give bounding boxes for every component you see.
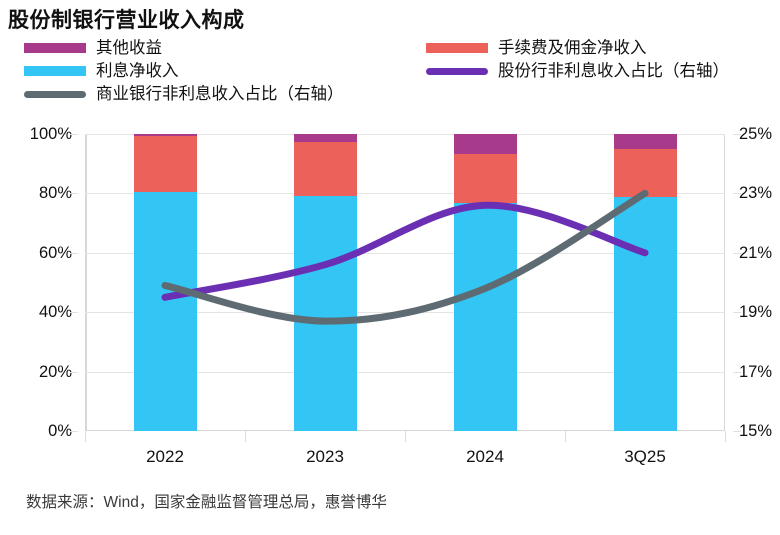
y-axis-left-tick: 40%	[39, 304, 72, 321]
y-axis-left-tick: 100%	[30, 126, 72, 143]
x-axis-tick: 3Q25	[624, 447, 666, 467]
legend-other-income[interactable]: 其他收益	[24, 40, 162, 57]
bar-segment[interactable]	[294, 134, 357, 142]
y-axis-right-tick-mark	[733, 253, 741, 254]
x-axis-tick: 2022	[146, 447, 184, 467]
x-axis: 2022202320243Q25	[85, 431, 725, 471]
legend-item-label: 商业银行非利息收入占比（右轴）	[96, 86, 344, 103]
bar-column[interactable]	[294, 134, 357, 431]
bar-segment[interactable]	[454, 203, 517, 431]
y-axis-left-tick-mark	[70, 193, 78, 194]
y-axis-left-tick-mark	[70, 134, 78, 135]
chart-container: 股份制银行营业收入构成 其他收益手续费及佣金净收入利息净收入股份行非利息收入占比…	[0, 0, 780, 535]
y-axis-left-tick: 20%	[39, 364, 72, 381]
chart-legend: 其他收益手续费及佣金净收入利息净收入股份行非利息收入占比（右轴）商业银行非利息收…	[22, 40, 762, 110]
legend-color-swatch	[426, 43, 488, 53]
y-axis-right-tick: 15%	[739, 423, 772, 440]
bar-segment[interactable]	[134, 192, 197, 431]
x-axis-divider	[725, 431, 726, 442]
y-axis-right-tick-mark	[733, 431, 741, 432]
bar-column[interactable]	[614, 134, 677, 431]
y-axis-right-tick: 17%	[739, 364, 772, 381]
bar-segment[interactable]	[134, 134, 197, 136]
x-axis-tick: 2024	[466, 447, 504, 467]
y-axis-left-tick: 60%	[39, 245, 72, 262]
bar-segment[interactable]	[614, 149, 677, 197]
y-axis-right-tick: 23%	[739, 185, 772, 202]
legend-color-swatch	[24, 66, 86, 76]
bar-segment[interactable]	[294, 196, 357, 431]
y-axis-right-tick-mark	[733, 134, 741, 135]
legend-color-swatch	[24, 43, 86, 53]
legend-commercial-bank-noninterest-share[interactable]: 商业银行非利息收入占比（右轴）	[24, 86, 344, 103]
y-axis-left: 100%80%60%40%20%0%	[8, 134, 78, 431]
line-series-path	[165, 193, 645, 321]
legend-item-label: 股份行非利息收入占比（右轴）	[498, 63, 729, 80]
legend-joint-stock-noninterest-share[interactable]: 股份行非利息收入占比（右轴）	[426, 63, 729, 80]
y-axis-left-tick-mark	[70, 431, 78, 432]
y-axis-left-tick: 80%	[39, 185, 72, 202]
y-axis-right-tick: 21%	[739, 245, 772, 262]
y-axis-right-tick: 19%	[739, 304, 772, 321]
legend-item-label: 利息净收入	[96, 63, 179, 80]
legend-line-swatch	[24, 91, 86, 98]
plot-right-edge	[724, 134, 726, 431]
y-axis-right-tick: 25%	[739, 126, 772, 143]
y-axis-right-tick-mark	[733, 193, 741, 194]
y-axis-left-tick-mark	[70, 312, 78, 313]
y-axis-left-tick: 0%	[48, 423, 72, 440]
legend-item-label: 其他收益	[96, 40, 162, 57]
bar-column[interactable]	[134, 134, 197, 431]
plot-area	[85, 134, 725, 431]
bar-segment[interactable]	[454, 154, 517, 203]
plot-left-edge	[85, 134, 87, 431]
bar-segment[interactable]	[134, 136, 197, 192]
legend-net-interest-income[interactable]: 利息净收入	[24, 63, 179, 80]
bar-segment[interactable]	[614, 134, 677, 149]
legend-line-swatch	[426, 68, 488, 75]
legend-fee-commission-income[interactable]: 手续费及佣金净收入	[426, 40, 647, 57]
y-axis-left-tick-mark	[70, 253, 78, 254]
x-axis-divider	[85, 431, 86, 442]
legend-item-label: 手续费及佣金净收入	[498, 40, 647, 57]
bar-segment[interactable]	[454, 134, 517, 154]
y-axis-left-tick-mark	[70, 372, 78, 373]
source-footnote: 数据来源：Wind，国家金融监督管理总局，惠誉博华	[26, 490, 387, 512]
x-axis-divider	[245, 431, 246, 442]
bar-segment[interactable]	[614, 197, 677, 431]
x-axis-divider	[565, 431, 566, 442]
x-axis-tick: 2023	[306, 447, 344, 467]
x-axis-divider	[405, 431, 406, 442]
bar-column[interactable]	[454, 134, 517, 431]
y-axis-right: 25%23%21%19%17%15%	[733, 134, 780, 431]
bar-segment[interactable]	[294, 142, 357, 196]
chart-title: 股份制银行营业收入构成	[8, 4, 245, 34]
y-axis-right-tick-mark	[733, 372, 741, 373]
y-axis-right-tick-mark	[733, 312, 741, 313]
line-series-path	[165, 205, 645, 297]
